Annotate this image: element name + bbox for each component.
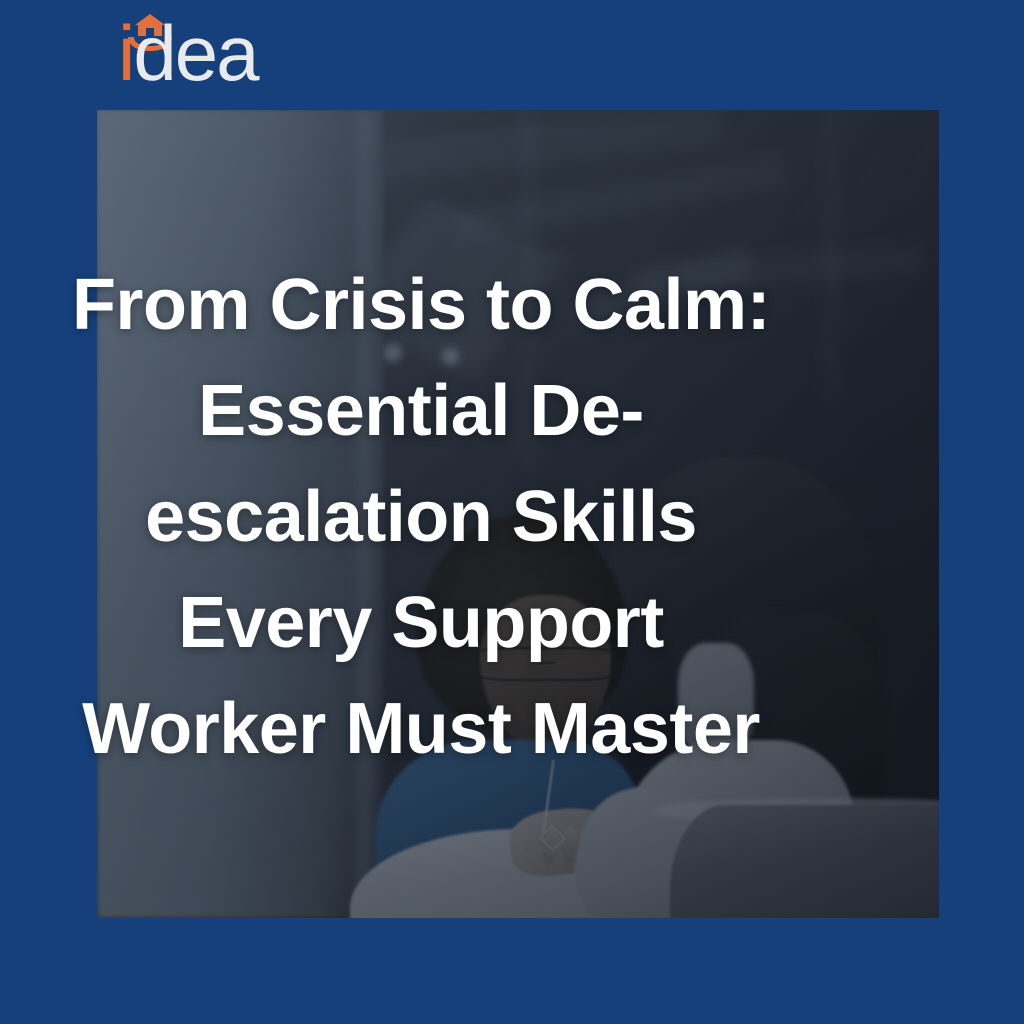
headline-line-1: From Crisis to Calm: — [40, 252, 802, 358]
headline-line-3: escalation Skills — [40, 464, 802, 570]
headline-line-4: Every Support — [40, 570, 802, 676]
brand-wordmark-i: i — [118, 9, 133, 97]
headline-line-2: Essential De- — [40, 358, 802, 464]
brand-wordmark-rest: dea — [133, 9, 257, 97]
social-card: idea — [0, 0, 1024, 1024]
headline-line-5: Worker Must Master — [40, 676, 802, 782]
page-title: From Crisis to Calm: Essential De- escal… — [40, 252, 802, 782]
brand-logo[interactable]: idea — [118, 8, 378, 100]
brand-wordmark: idea — [118, 14, 378, 92]
